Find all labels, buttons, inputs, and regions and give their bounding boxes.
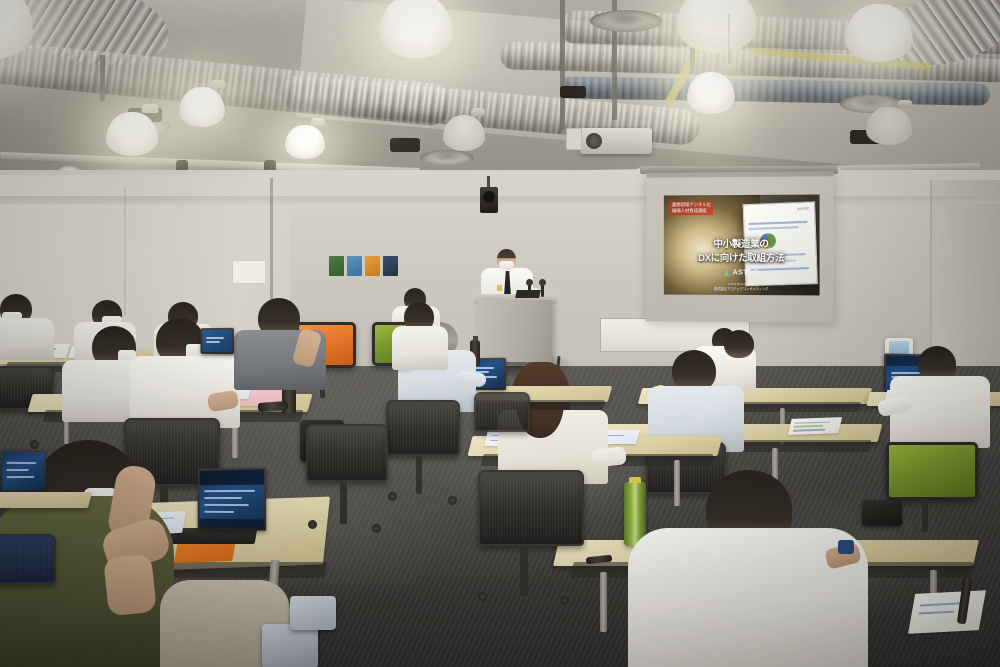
laptop-left-edge-screen	[2, 451, 44, 490]
astec-logo-icon	[724, 269, 731, 276]
chair-green-right[interactable]	[886, 442, 978, 500]
wall-card-green	[329, 256, 344, 276]
chair-cb-caster-1	[388, 492, 397, 501]
desk-left-edge	[0, 492, 92, 508]
chair-mid-post	[340, 482, 347, 524]
paper-notice	[232, 260, 266, 284]
chair-mid-caster-1	[308, 520, 317, 529]
chair-center-caster-1	[478, 592, 487, 601]
chair-center-caster-2	[560, 596, 569, 605]
notepad-front-right	[908, 590, 986, 634]
presenter-face-mask	[499, 261, 514, 270]
ceiling-strut-1	[560, 0, 565, 130]
desk-leg-c-1	[674, 460, 680, 506]
chair-cb-post	[416, 456, 422, 494]
round-vent-4	[420, 150, 474, 166]
microphone-2	[541, 284, 544, 297]
laptop-left-edge[interactable]	[0, 449, 46, 492]
chair-center-post	[520, 546, 528, 596]
desk-foreground-left-apron	[149, 562, 328, 578]
wristwatch	[838, 540, 854, 554]
round-vent-1	[590, 10, 662, 32]
slide-title: 中小製造業の DXに向けた取組方法	[664, 238, 820, 266]
chair-fl-caster	[30, 440, 39, 449]
ceiling-projector	[580, 128, 652, 154]
wall-card-orange	[365, 256, 380, 276]
projection-screen: ASTEC 業務現場デジタル化 職場人材育成講座 中小製造業の DXに向けた取組…	[646, 171, 834, 323]
slide-ribbon-line2: 職場人材育成講座	[672, 208, 711, 214]
wall-seam-2	[124, 186, 126, 316]
presenter-badge	[497, 285, 502, 291]
laptop-left-mid-screen	[202, 330, 232, 352]
ceiling-panel-box	[566, 128, 582, 150]
laptop-foreground[interactable]	[198, 467, 267, 531]
chair-cb-caster-2	[448, 496, 457, 505]
sneaker-2	[290, 596, 336, 630]
ceiling-strut-4	[100, 55, 105, 101]
sneaker-1	[262, 624, 318, 667]
chair-mesh-center-back[interactable]	[386, 400, 460, 456]
chair-mesh-mid-floor[interactable]	[306, 424, 388, 482]
laptop-foreground-screen	[200, 469, 265, 529]
black-vent-2	[390, 138, 420, 152]
desk-leg-fr-1	[600, 572, 607, 632]
slide-logo-sub-jp: 株式会社アステックコンサルティング	[664, 286, 820, 292]
laptop-left-mid[interactable]	[201, 328, 234, 354]
seminar-room-photo: ASTEC 業務現場デジタル化 職場人材育成講座 中小製造業の DXに向けた取組…	[0, 0, 1000, 667]
wall-speaker	[480, 187, 498, 213]
wall-card-navy	[383, 256, 398, 276]
slide-title-line1: 中小製造業の	[664, 238, 820, 252]
black-bag-3	[862, 500, 902, 526]
lectern	[478, 300, 552, 362]
slide-tablet-logo: ASTEC	[797, 207, 810, 212]
wall-trim-band	[0, 196, 1000, 204]
projector-lens	[586, 133, 602, 149]
presentation-slide: ASTEC 業務現場デジタル化 職場人材育成講座 中小製造業の DXに向けた取組…	[664, 195, 820, 296]
chair-left-edge[interactable]	[0, 534, 56, 584]
microphone-1	[528, 284, 531, 297]
black-vent-4	[560, 86, 586, 98]
chair-mesh-center[interactable]	[478, 470, 584, 546]
chair-green-right-post	[922, 498, 928, 532]
handout-center-right	[788, 417, 842, 435]
slide-ribbon: 業務現場デジタル化 職場人材育成講座	[670, 201, 713, 215]
slide-logo-name: ASTEC	[733, 269, 759, 276]
slide-logo: ASTEC CONSULTING 株式会社アステックコンサルティング	[664, 264, 820, 292]
chair-mid-caster-2	[372, 524, 381, 533]
wall-card-blue	[347, 256, 362, 276]
chair-mesh-back-center[interactable]	[474, 392, 530, 432]
